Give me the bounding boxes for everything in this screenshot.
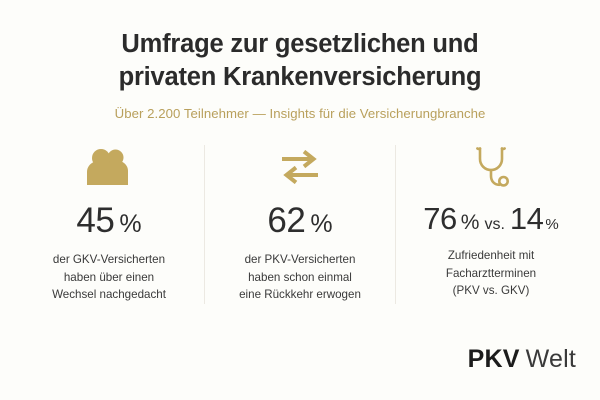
title-line-2: privaten Krankenversicherung — [50, 61, 550, 94]
logo-text-light: Welt — [526, 347, 576, 372]
page-title: Umfrage zur gesetzlichen und privaten Kr… — [50, 28, 550, 93]
stat-caption: der GKV-Versicherten haben über einen We… — [20, 251, 198, 304]
logo-text-bold: PKV — [468, 347, 520, 372]
stat-block-zufriedenheit: 76 % vs. 14 % Zufriedenheit mit Facharzt… — [396, 145, 586, 300]
caption-line-2: haben über einen — [20, 269, 198, 287]
stat-value-comparison: 76 % vs. 14 % — [402, 203, 580, 234]
stat-caption: der PKV-Versicherten haben schon einmal … — [211, 251, 389, 304]
caption-line-3: eine Rückkehr erwogen — [211, 286, 389, 304]
caption-line-3: (PKV vs. GKV) — [402, 282, 580, 300]
header: Umfrage zur gesetzlichen und privaten Kr… — [0, 0, 600, 121]
caption-line-3: Wechsel nachgedacht — [20, 286, 198, 304]
percent-sign-primary: % — [461, 212, 480, 233]
caption-line-2: Facharztterminen — [402, 265, 580, 283]
stethoscope-icon — [402, 145, 580, 189]
stat-block-pkv-rueckkehr: 62 % der PKV-Versicherten haben schon ei… — [205, 145, 395, 304]
caption-line-1: Zufriedenheit mit — [402, 247, 580, 265]
caption-line-1: der PKV-Versicherten — [211, 251, 389, 269]
stat-number-primary: 76 — [423, 203, 456, 234]
statistics-row: 45 % der GKV-Versicherten haben über ein… — [0, 145, 600, 304]
percent-sign: % — [310, 212, 332, 237]
stat-block-gkv-wechsel: 45 % der GKV-Versicherten haben über ein… — [14, 145, 204, 304]
stat-caption: Zufriedenheit mit Facharztterminen (PKV … — [402, 247, 580, 300]
people-icon — [20, 145, 198, 189]
stat-number-secondary: 14 — [510, 203, 543, 234]
versus-label: vs. — [484, 217, 504, 233]
stat-value: 62 % — [211, 203, 389, 238]
percent-sign: % — [119, 212, 141, 237]
title-line-1: Umfrage zur gesetzlichen und — [50, 28, 550, 61]
page-subtitle: Über 2.200 Teilnehmer — Insights für die… — [0, 106, 600, 121]
stat-number: 45 — [76, 203, 114, 238]
percent-sign-secondary: % — [545, 217, 558, 232]
infographic-canvas: Umfrage zur gesetzlichen und privaten Kr… — [0, 0, 600, 400]
stat-number: 62 — [267, 203, 305, 238]
caption-line-1: der GKV-Versicherten — [20, 251, 198, 269]
stat-value: 45 % — [20, 203, 198, 238]
brand-logo: PKV Welt — [468, 347, 576, 372]
caption-line-2: haben schon einmal — [211, 269, 389, 287]
exchange-arrows-icon — [211, 145, 389, 189]
